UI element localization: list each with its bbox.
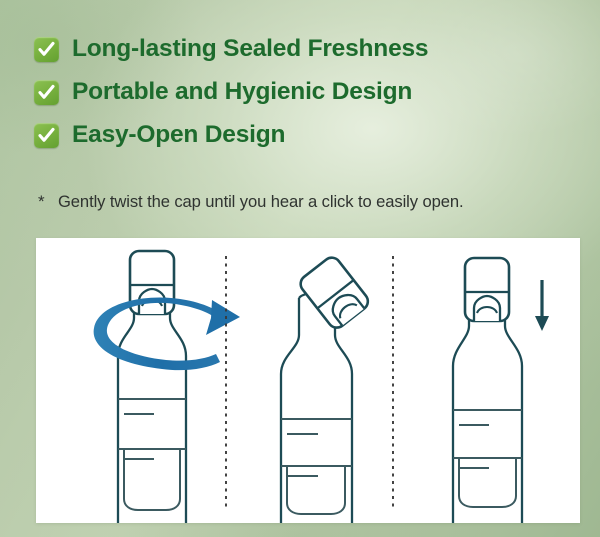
asterisk-marker: * (38, 192, 58, 212)
tilted-cap (297, 254, 371, 331)
check-square-icon (34, 80, 59, 105)
illustration-panel (36, 238, 580, 523)
feature-item-label: Portable and Hygienic Design (72, 80, 412, 105)
feature-item-1: Long-lasting Sealed Freshness (34, 28, 574, 71)
panel-twist-cap (94, 251, 240, 523)
feature-item-label: Easy-Open Design (72, 123, 285, 148)
panel-lift-cap (276, 254, 371, 523)
feature-item-label: Long-lasting Sealed Freshness (72, 37, 428, 62)
check-square-icon (34, 37, 59, 62)
instruction-note: * Gently twist the cap until you hear a … (38, 192, 463, 212)
feature-list: Long-lasting Sealed Freshness Portable a… (34, 28, 574, 157)
feature-item-3: Easy-Open Design (34, 114, 574, 157)
check-square-icon (34, 123, 59, 148)
panel-press-cap (448, 258, 549, 523)
feature-item-2: Portable and Hygienic Design (34, 71, 574, 114)
down-arrow-icon (535, 280, 549, 331)
illustration-diagram (36, 238, 580, 523)
instruction-note-text: Gently twist the cap until you hear a cl… (58, 192, 463, 212)
